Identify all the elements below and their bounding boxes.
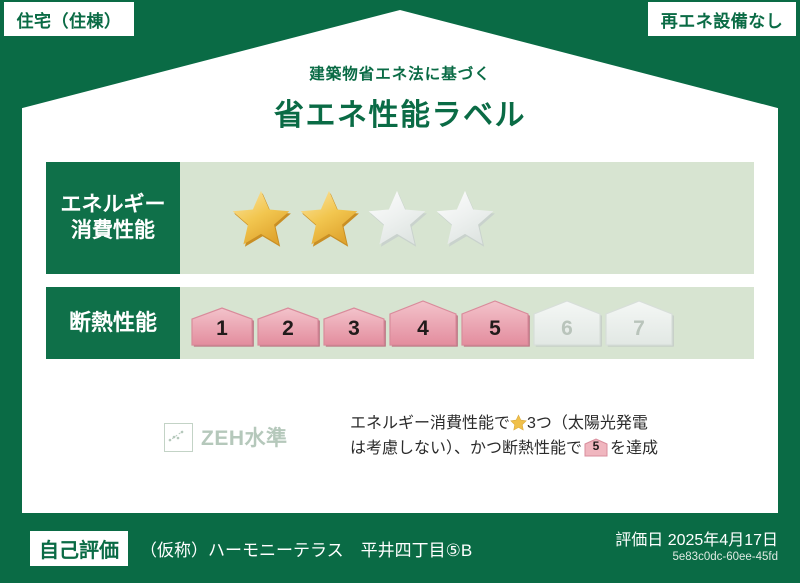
grade-scale: 1234567 <box>180 299 674 347</box>
energy-performance-label: 住宅（住棟） 再エネ設備なし 建築物省エネ法に基づく 省エネ性能ラベル エネルギ… <box>0 0 800 583</box>
star-empty-icon <box>434 188 496 248</box>
star-filled-icon <box>298 188 360 248</box>
grade-chip: 7 <box>604 299 674 347</box>
insulation-performance-row: 断熱性能 1234567 <box>46 287 754 359</box>
energy-consumption-label: エネルギー 消費性能 <box>46 162 180 274</box>
grade-value: 7 <box>604 317 674 341</box>
zeh-standard-label: ZEH水準 <box>201 422 288 452</box>
star-empty-icon <box>366 188 428 248</box>
insulation-performance-label: 断熱性能 <box>46 287 180 359</box>
grade-chip: 5 <box>460 299 530 347</box>
grade-value: 1 <box>190 317 254 341</box>
grade-value: 4 <box>388 317 458 341</box>
label-subtitle: 建築物省エネ法に基づく <box>0 62 800 84</box>
zeh-badge: ZEH水準 <box>46 422 334 452</box>
self-evaluation-badge: 自己評価 <box>30 531 128 566</box>
grade-value: 3 <box>322 317 386 341</box>
page-title: 省エネ性能ラベル <box>0 90 800 134</box>
inline-grade-badge: 5 <box>584 438 608 457</box>
star-filled-icon <box>230 188 292 248</box>
label-title-block: 建築物省エネ法に基づく 省エネ性能ラベル <box>0 62 800 134</box>
zeh-desc-part1: エネルギー消費性能で <box>350 415 510 432</box>
grade-value: 6 <box>532 317 602 341</box>
evaluation-meta: 評価日 2025年4月17日 5e83c0dc-60ee-45fd <box>615 531 778 565</box>
zeh-desc-line2-a: は考慮しない）、かつ断熱性能で <box>350 440 582 457</box>
grade-chip: 1 <box>190 306 254 347</box>
grade-chip: 2 <box>256 306 320 347</box>
label-footer: 自己評価 （仮称）ハーモニーテラス 平井四丁目⑤B 評価日 2025年4月17日… <box>0 513 800 583</box>
renewable-energy-tag: 再エネ設備なし <box>648 2 796 36</box>
inline-star-icon <box>510 414 527 431</box>
evaluation-date: 評価日 2025年4月17日 <box>615 531 778 550</box>
grade-value: 2 <box>256 317 320 341</box>
building-name: （仮称）ハーモニーテラス 平井四丁目⑤B <box>140 536 472 561</box>
building-type-tag: 住宅（住棟） <box>4 2 134 36</box>
evaluation-date-value: 2025年4月17日 <box>668 532 778 549</box>
grade-chip: 3 <box>322 306 386 347</box>
star-rating <box>180 188 496 248</box>
energy-label-line2: 消費性能 <box>71 218 155 244</box>
grade-chip: 4 <box>388 299 458 347</box>
evaluation-id: 5e83c0dc-60ee-45fd <box>615 550 778 565</box>
zeh-standard-row: ZEH水準 エネルギー消費性能で3つ（太陽光発電 は考慮しない）、かつ断熱性能で… <box>46 404 754 470</box>
zeh-desc-star-count: 3つ（太陽光発電 <box>527 415 648 432</box>
zeh-chart-icon <box>164 423 193 452</box>
grade-value: 5 <box>460 317 530 341</box>
zeh-desc-line2-b: を達成 <box>610 440 658 457</box>
evaluation-date-label: 評価日 <box>615 532 663 549</box>
energy-consumption-row: エネルギー 消費性能 <box>46 162 754 274</box>
insulation-label-text: 断熱性能 <box>69 309 157 337</box>
zeh-description: エネルギー消費性能で3つ（太陽光発電 は考慮しない）、かつ断熱性能で5を達成 <box>334 412 754 462</box>
energy-label-line1: エネルギー <box>61 192 166 218</box>
inline-grade-value: 5 <box>584 437 608 456</box>
insulation-performance-value: 1234567 <box>180 287 754 359</box>
grade-chip: 6 <box>532 299 602 347</box>
energy-consumption-value <box>180 162 754 274</box>
